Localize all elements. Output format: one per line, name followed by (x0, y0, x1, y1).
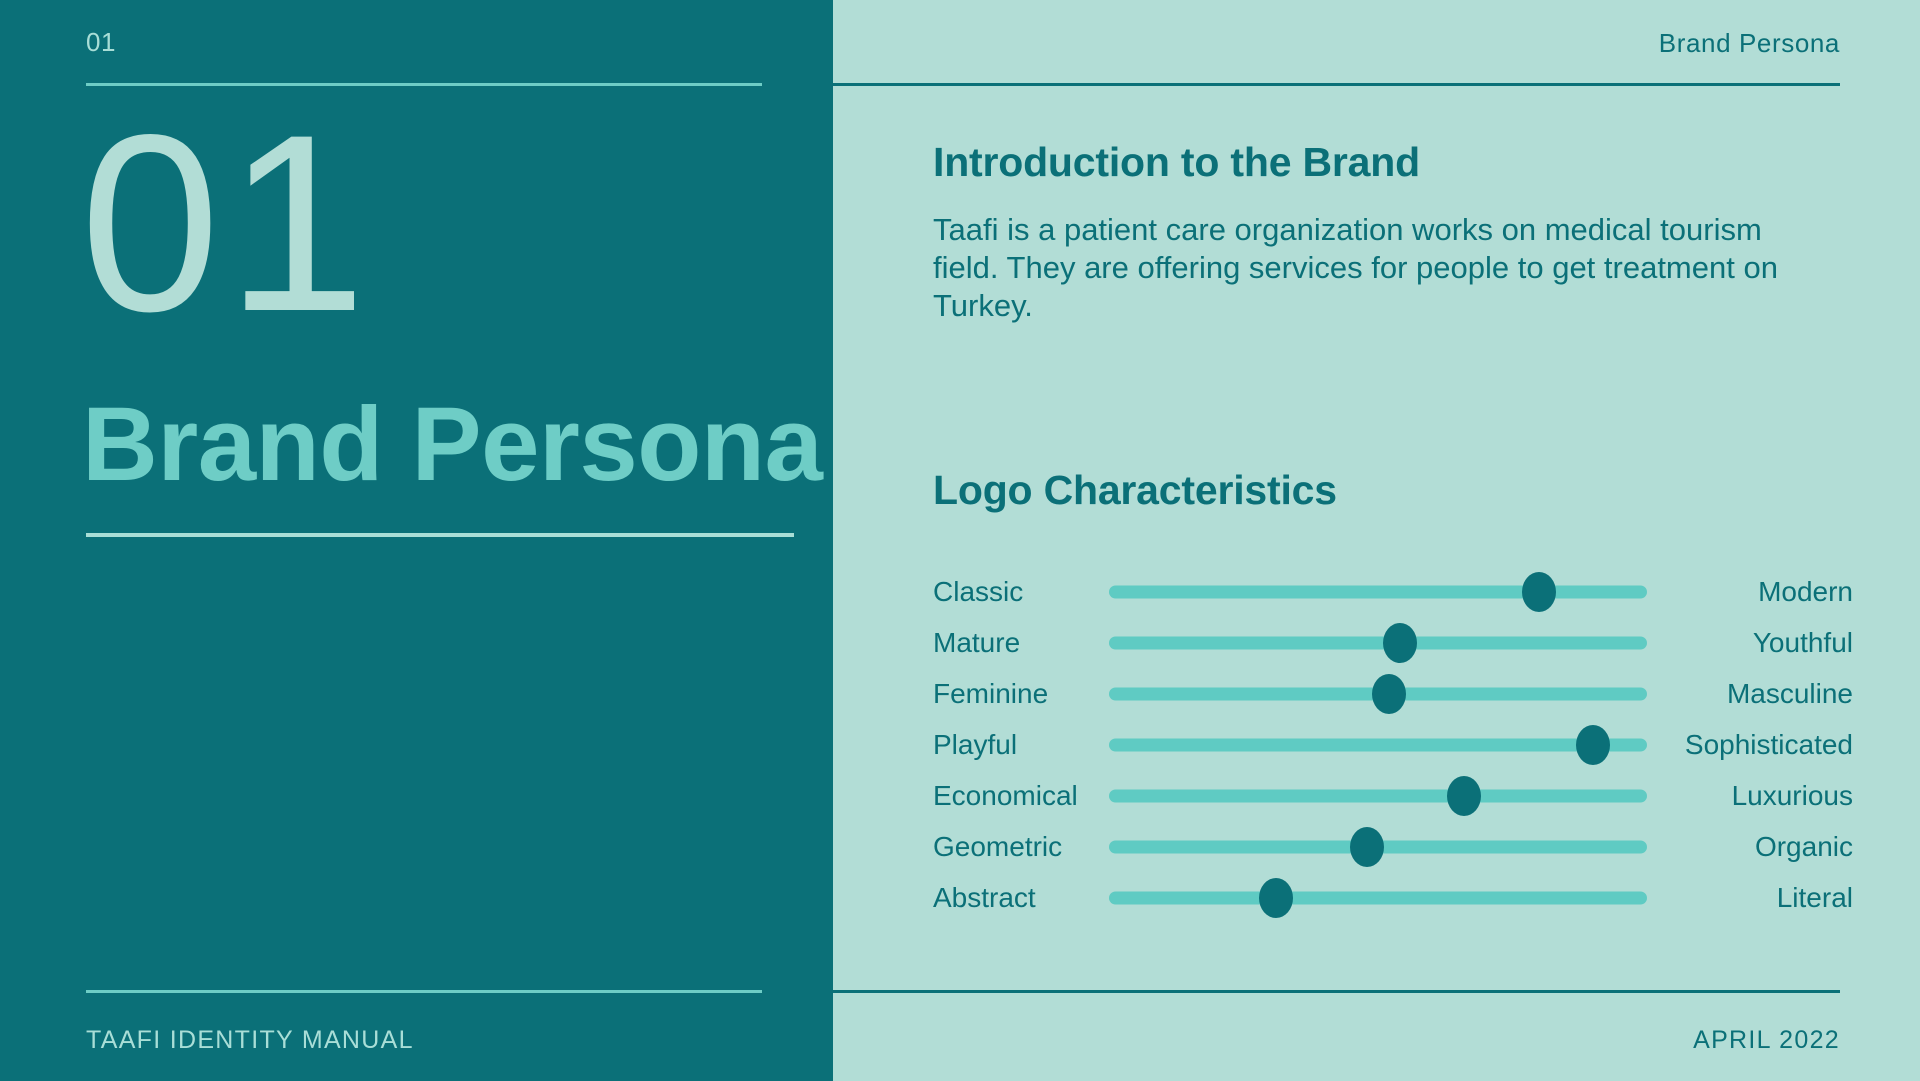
slider-handle[interactable] (1350, 827, 1384, 867)
left-panel: 01 01 Brand Persona TAAFI IDENTITY MANUA… (0, 0, 833, 1081)
slider-label-right: Luxurious (1653, 782, 1853, 810)
slider-label-right: Literal (1653, 884, 1853, 912)
slider-row: Economical Luxurious (933, 770, 1853, 821)
slider-handle[interactable] (1259, 878, 1293, 918)
left-header-section-number: 01 (86, 28, 761, 57)
slider-label-right: Youthful (1653, 629, 1853, 657)
slider-track-wrap[interactable] (1109, 617, 1647, 668)
slider-label-left: Economical (933, 782, 1103, 810)
slider-track (1109, 585, 1647, 598)
slide-brand-persona: 01 01 Brand Persona TAAFI IDENTITY MANUA… (0, 0, 1920, 1081)
slider-label-right: Modern (1653, 578, 1853, 606)
slider-row: Classic Modern (933, 566, 1853, 617)
slider-handle[interactable] (1522, 572, 1556, 612)
slider-row: Feminine Masculine (933, 668, 1853, 719)
slider-label-left: Geometric (933, 833, 1103, 861)
slider-track-wrap[interactable] (1109, 821, 1647, 872)
slider-label-left: Feminine (933, 680, 1103, 708)
slider-track-wrap[interactable] (1109, 770, 1647, 821)
logo-characteristics-heading: Logo Characteristics (933, 468, 1853, 513)
slider-track (1109, 636, 1647, 649)
slider-label-left: Playful (933, 731, 1103, 759)
slider-label-left: Mature (933, 629, 1103, 657)
slider-row: Mature Youthful (933, 617, 1853, 668)
slider-track (1109, 738, 1647, 751)
slider-track-wrap[interactable] (1109, 668, 1647, 719)
date-footer: APRIL 2022 (1693, 1026, 1840, 1055)
slider-handle[interactable] (1576, 725, 1610, 765)
right-panel: Brand Persona Introduction to the Brand … (833, 0, 1920, 1081)
right-header-section-label: Brand Persona (1659, 28, 1840, 59)
intro-body-text: Taafi is a patient care organization wor… (933, 211, 1813, 324)
right-header-divider (833, 83, 1840, 86)
slider-label-right: Sophisticated (1653, 731, 1853, 759)
slider-label-left: Abstract (933, 884, 1103, 912)
slider-label-right: Organic (1653, 833, 1853, 861)
slider-handle[interactable] (1383, 623, 1417, 663)
slider-track (1109, 891, 1647, 904)
slider-track-wrap[interactable] (1109, 872, 1647, 923)
slider-row: Abstract Literal (933, 872, 1853, 923)
intro-section: Introduction to the Brand Taafi is a pat… (933, 140, 1833, 325)
slider-row: Geometric Organic (933, 821, 1853, 872)
document-name-footer: TAAFI IDENTITY MANUAL (86, 1026, 414, 1055)
page-title: Brand Persona (82, 392, 822, 497)
slider-handle[interactable] (1447, 776, 1481, 816)
slider-track-wrap[interactable] (1109, 719, 1647, 770)
slider-track (1109, 789, 1647, 802)
left-header: 01 (86, 28, 761, 57)
slider-label-right: Masculine (1653, 680, 1853, 708)
intro-heading: Introduction to the Brand (933, 140, 1833, 185)
slider-row: Playful Sophisticated (933, 719, 1853, 770)
logo-characteristics-section: Logo Characteristics (933, 468, 1853, 513)
left-footer-divider (86, 990, 762, 993)
slider-label-left: Classic (933, 578, 1103, 606)
section-number-display: 01 (80, 98, 372, 350)
slider-track-wrap[interactable] (1109, 566, 1647, 617)
right-footer-divider (833, 990, 1840, 993)
title-underline (86, 533, 794, 537)
slider-handle[interactable] (1372, 674, 1406, 714)
logo-characteristics-sliders: Classic Modern Mature Youthful Feminine (933, 566, 1853, 923)
